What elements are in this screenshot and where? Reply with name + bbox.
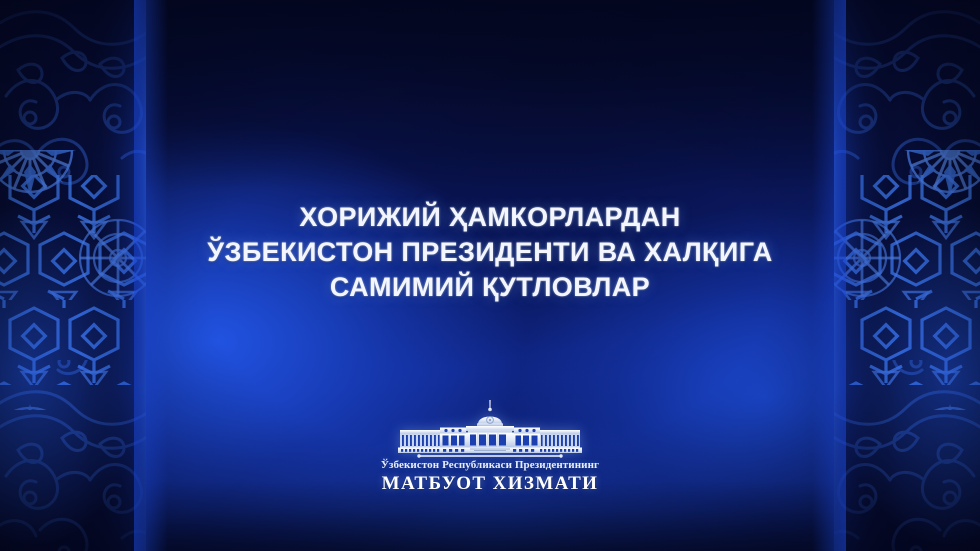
headline-line-3: САМИМИЙ ҚУТЛОВЛАР — [150, 270, 830, 305]
logo-subtitle: Ўзбекистон Республикаси Президентининг — [381, 459, 599, 471]
logo-organization: МАТБУОТ ХИЗМАТИ — [382, 473, 599, 495]
headline-block: ХОРИЖИЙ ҲАМКОРЛАРДАН ЎЗБЕКИСТОН ПРЕЗИДЕН… — [0, 200, 980, 305]
broadcast-lower-third-slate: ХОРИЖИЙ ҲАМКОРЛАРДАН ЎЗБЕКИСТОН ПРЕЗИДЕН… — [0, 0, 980, 551]
headline-line-2: ЎЗБЕКИСТОН ПРЕЗИДЕНТИ ВА ХАЛҚИГА — [150, 235, 830, 270]
headline-line-1: ХОРИЖИЙ ҲАМКОРЛАРДАН — [150, 200, 830, 235]
presidential-palace-building-icon — [382, 400, 598, 458]
press-service-logo: Ўзбекистон Республикаси Президентининг М… — [0, 400, 980, 495]
